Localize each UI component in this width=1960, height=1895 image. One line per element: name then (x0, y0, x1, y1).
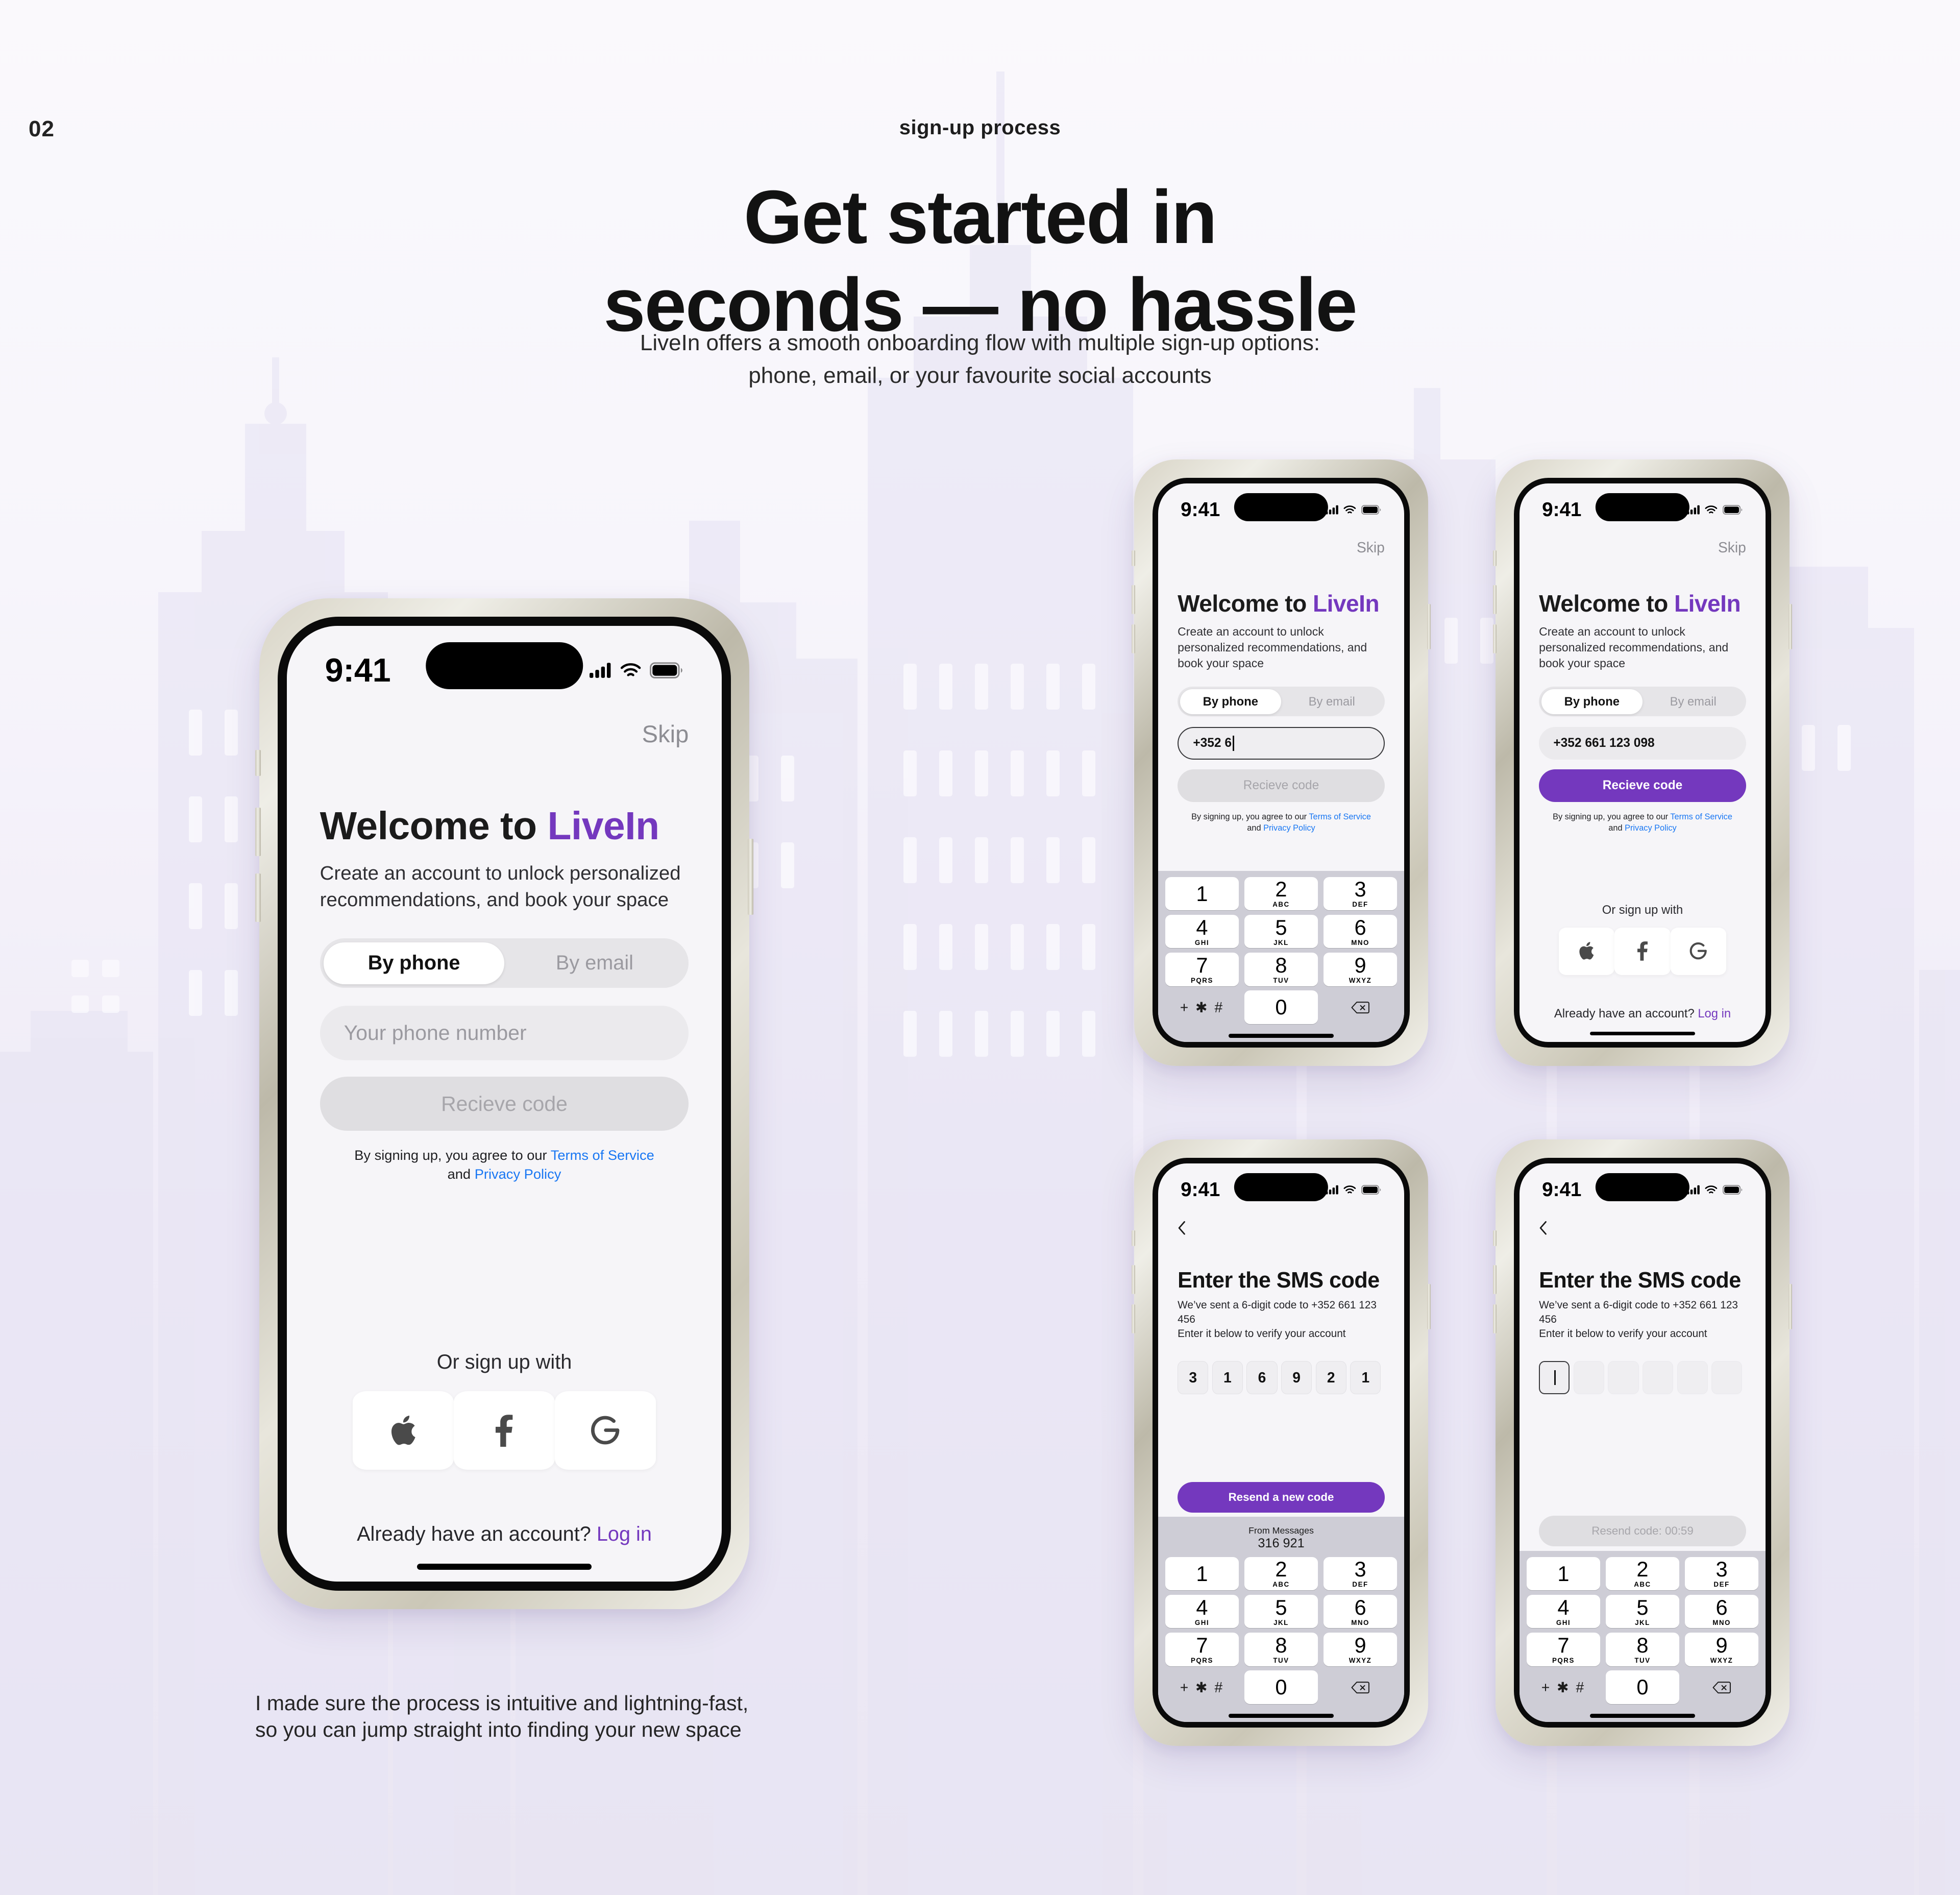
keypad-key-number: 8 (1275, 1635, 1287, 1656)
skip-button[interactable]: Skip (320, 720, 689, 748)
tab-by-phone[interactable]: By phone (324, 942, 504, 984)
legal-prefix: By signing up, you agree to our (1553, 812, 1670, 821)
signal-bars-icon (590, 662, 611, 678)
volume-down-button[interactable] (1493, 624, 1497, 653)
page-title: Get started in seconds — no hassle (0, 174, 1960, 349)
tab-by-phone[interactable]: By phone (1180, 689, 1281, 714)
keypad-key-number: 9 (1716, 1635, 1727, 1656)
status-bar: 9:41 (1520, 1169, 1766, 1210)
keypad-key-2[interactable]: 2 ABC (1606, 1557, 1680, 1590)
page-subtitle-line-2: phone, email, or your favourite social a… (0, 359, 1960, 392)
keypad-key-number: 7 (1196, 955, 1208, 976)
dynamic-island (1234, 1173, 1328, 1201)
otp-digit-6[interactable] (1711, 1361, 1742, 1394)
home-indicator (1229, 1714, 1333, 1717)
otp-digit-1[interactable]: 3 (1178, 1361, 1208, 1394)
keypad-key-6[interactable]: 6 MNO (1685, 1595, 1759, 1628)
keypad-key-number: 5 (1636, 1597, 1648, 1618)
wifi-icon (1705, 505, 1718, 515)
keypad-key-9[interactable]: 9 WXYZ (1324, 1633, 1398, 1666)
device-bezel: 9:41 Enter the SMS code We’ve sent a 6-d… (1153, 1158, 1409, 1727)
keypad-key-symbols[interactable]: + ✱ # (1165, 1670, 1239, 1704)
otp-digit-2[interactable] (1574, 1361, 1604, 1394)
facebook-icon (1637, 941, 1648, 961)
keypad-key-5[interactable]: 5 JKL (1244, 1595, 1318, 1628)
keypad-key-number: 5 (1275, 1597, 1287, 1618)
privacy-policy-link[interactable]: Privacy Policy (1263, 823, 1315, 833)
device-bezel: 9:41 Skip Welcome to LiveIn Create an ac… (1514, 478, 1771, 1047)
keypad-key-number: 3 (1716, 1559, 1727, 1580)
keypad-key-number: 2 (1275, 879, 1287, 900)
keypad-key-9[interactable]: 9 WXYZ (1324, 953, 1398, 986)
keypad-key-letters: GHI (1556, 1619, 1571, 1626)
otp-digit-6[interactable]: 1 (1350, 1361, 1381, 1394)
backspace-icon[interactable] (1685, 1670, 1759, 1704)
keypad-key-letters: DEF (1352, 901, 1368, 908)
google-icon (591, 1415, 620, 1446)
keypad-key-4[interactable]: 4 GHI (1165, 1595, 1239, 1628)
numeric-keypad: 1 2 ABC 3 DEF 4 GHI 5 JKL 6 MNO 7 PQRS 8 (1158, 871, 1405, 1042)
legal-text: By signing up, you agree to our Terms of… (1539, 811, 1746, 834)
legal-prefix: By signing up, you agree to our (354, 1147, 551, 1163)
keypad-key-number: 2 (1636, 1559, 1648, 1580)
already-have-account: Already have an account? Log in (1539, 1007, 1746, 1021)
keypad-key-number: 6 (1354, 1597, 1366, 1618)
facebook-signup-button[interactable] (454, 1391, 555, 1470)
phone-number-input[interactable]: +352 6 (1178, 727, 1385, 760)
keypad-key-number: 4 (1557, 1597, 1569, 1618)
otp-digit-5[interactable]: 2 (1316, 1361, 1346, 1394)
volume-up-button[interactable] (255, 808, 261, 856)
log-in-link[interactable]: Log in (597, 1523, 652, 1545)
tab-by-phone[interactable]: By phone (1541, 689, 1643, 714)
phone-number-value: Your phone number (344, 1021, 527, 1045)
keypad-key-letters: MNO (1712, 1619, 1731, 1626)
keypad-key-letters: TUV (1273, 977, 1289, 984)
page-subtitle-line-1: LiveIn offers a smooth onboarding flow w… (0, 327, 1960, 359)
keypad-key-number: 3 (1354, 879, 1366, 900)
phone-number-input[interactable]: +352 661 123 098 (1539, 727, 1746, 760)
keypad-key-1[interactable]: 1 (1165, 1557, 1239, 1590)
signup-screen: Skip Welcome to LiveIn Create an account… (287, 704, 722, 1582)
iphone-mockup-phone-main-empty: 9:41 Skip Welcome to LiveIn Create an ac… (259, 598, 749, 1609)
battery-icon (1361, 1185, 1382, 1195)
keypad-key-6[interactable]: 6 MNO (1324, 1595, 1398, 1628)
otp-digit-3[interactable]: 6 (1246, 1361, 1277, 1394)
keypad-key-letters: GHI (1195, 1619, 1209, 1626)
sms-autofill-suggestion[interactable]: From Messages 316 921 (1158, 1521, 1405, 1554)
keypad-key-number: 1 (1557, 1563, 1569, 1585)
terms-of-service-link[interactable]: Terms of Service (1670, 812, 1732, 821)
recieve-code-button[interactable]: Recieve code (1539, 769, 1746, 802)
keypad-key-letters: MNO (1351, 1619, 1369, 1626)
legal-and: and (1247, 823, 1263, 833)
battery-icon (650, 662, 683, 678)
keypad-key-symbols[interactable]: + ✱ # (1527, 1670, 1601, 1704)
otp-digit-4[interactable] (1643, 1361, 1673, 1394)
otp-digit-5[interactable] (1677, 1361, 1708, 1394)
keypad-key-letters: ABC (1272, 1581, 1289, 1588)
silent-switch[interactable] (1132, 1230, 1135, 1246)
volume-up-button[interactable] (1493, 585, 1497, 614)
google-signup-button[interactable] (555, 1391, 656, 1470)
section-kicker: sign-up process (0, 116, 1960, 139)
keypad-key-number: 6 (1716, 1597, 1727, 1618)
terms-of-service-link[interactable]: Terms of Service (1309, 812, 1371, 821)
already-have-account-text: Already have an account? (1554, 1007, 1698, 1021)
iphone-mockup-sms-empty: 9:41 Enter the SMS code We’ve sent a 6-d… (1496, 1139, 1790, 1746)
text-caret (1554, 1370, 1556, 1384)
otp-digit-3[interactable] (1608, 1361, 1638, 1394)
sms-screen: Enter the SMS code We’ve sent a 6-digit … (1158, 1210, 1405, 1517)
otp-digit-2[interactable]: 1 (1212, 1361, 1243, 1394)
power-button[interactable] (1788, 1284, 1792, 1329)
or-sign-up-with-label: Or sign up with (320, 1351, 689, 1374)
status-bar: 9:41 (1158, 489, 1405, 530)
status-bar-time: 9:41 (325, 651, 391, 689)
welcome-heading: Welcome to LiveIn (1539, 590, 1746, 617)
battery-icon (1723, 1185, 1743, 1195)
silent-switch[interactable] (255, 750, 261, 776)
volume-up-button[interactable] (1132, 585, 1135, 614)
backspace-icon[interactable] (1324, 1670, 1398, 1704)
dynamic-island (1596, 493, 1689, 521)
sms-subtitle-line-2: Enter it below to verify your account (1539, 1327, 1746, 1341)
volume-down-button[interactable] (1132, 624, 1135, 653)
legal-prefix: By signing up, you agree to our (1191, 812, 1309, 821)
signup-method-tabs: By phone By email (1539, 687, 1746, 716)
power-button[interactable] (1788, 604, 1792, 649)
facebook-signup-button[interactable] (1614, 928, 1670, 975)
keypad-key-number: 2 (1275, 1559, 1287, 1580)
silent-switch[interactable] (1493, 1230, 1497, 1246)
keypad-grid: 1 2 ABC 3 DEF 4 GHI 5 JKL 6 MNO 7 PQRS 8 (1158, 1554, 1405, 1706)
keypad-key-number: 1 (1196, 1563, 1208, 1585)
legal-text: By signing up, you agree to our Terms of… (320, 1146, 689, 1184)
keypad-key-7[interactable]: 7 PQRS (1165, 953, 1239, 986)
welcome-heading-prefix: Welcome to (1539, 590, 1674, 617)
keypad-key-letters: PQRS (1191, 977, 1213, 984)
signup-subtitle: Create an account to unlock personalized… (320, 860, 689, 913)
sms-title: Enter the SMS code (1539, 1268, 1746, 1293)
keypad-key-3[interactable]: 3 DEF (1324, 1557, 1398, 1590)
skip-button[interactable]: Skip (1178, 539, 1385, 556)
volume-down-button[interactable] (255, 873, 261, 922)
resend-code-label: Resend a new code (1229, 1491, 1334, 1504)
signup-screen: Skip Welcome to LiveIn Create an account… (1158, 530, 1405, 871)
keypad-key-number: 8 (1275, 955, 1287, 976)
keypad-key-letters: JKL (1273, 939, 1289, 946)
keypad-key-letters: DEF (1352, 1581, 1368, 1588)
keypad-key-number: 8 (1636, 1635, 1648, 1656)
keypad-key-number: 0 (1275, 997, 1287, 1018)
keypad-key-8[interactable]: 8 TUV (1244, 1633, 1318, 1666)
keypad-key-letters: JKL (1635, 1619, 1650, 1626)
chevron-left-icon (1178, 1221, 1186, 1237)
back-button[interactable] (1539, 1221, 1746, 1237)
keypad-key-letters: WXYZ (1710, 1657, 1733, 1664)
otp-digit-1[interactable] (1539, 1361, 1570, 1394)
volume-down-button[interactable] (1493, 1304, 1497, 1333)
welcome-heading-prefix: Welcome to (1178, 590, 1313, 617)
otp-input-row: 316921 (1178, 1361, 1385, 1394)
dynamic-island (426, 642, 583, 689)
keypad-key-letters: GHI (1195, 939, 1209, 946)
keypad-key-letters: WXYZ (1349, 977, 1372, 984)
signup-method-tabs: By phone By email (1178, 687, 1385, 716)
page-title-line-1: Get started in (0, 174, 1960, 261)
recieve-code-button[interactable]: Recieve code (320, 1077, 689, 1131)
device-screen: 9:41 Skip Welcome to LiveIn Create an ac… (1158, 483, 1405, 1042)
recieve-code-label: Recieve code (1243, 779, 1319, 793)
keypad-key-6[interactable]: 6 MNO (1324, 915, 1398, 948)
keypad-key-2[interactable]: 2 ABC (1244, 877, 1318, 910)
signup-screen: Skip Welcome to LiveIn Create an account… (1520, 530, 1766, 1042)
keypad-key-letters: ABC (1272, 901, 1289, 908)
volume-up-button[interactable] (1132, 1265, 1135, 1294)
power-button[interactable] (748, 839, 754, 915)
legal-text: By signing up, you agree to our Terms of… (1178, 811, 1385, 834)
log-in-link[interactable]: Log in (1698, 1007, 1731, 1021)
keypad-key-number: 5 (1275, 917, 1287, 938)
resend-code-button[interactable]: Resend code: 00:59 (1539, 1516, 1746, 1546)
keypad-key-8[interactable]: 8 TUV (1606, 1633, 1680, 1666)
status-bar-time: 9:41 (1181, 1179, 1220, 1201)
keypad-key-symbols[interactable]: + ✱ # (1165, 990, 1239, 1024)
keypad-key-number: 3 (1354, 1559, 1366, 1580)
home-indicator (417, 1564, 592, 1570)
or-sign-up-with-label: Or sign up with (1539, 903, 1746, 917)
home-indicator (1590, 1714, 1695, 1717)
keypad-key-letters: MNO (1351, 939, 1369, 946)
status-bar-time: 9:41 (1181, 499, 1220, 521)
privacy-policy-link[interactable]: Privacy Policy (475, 1166, 561, 1182)
wifi-icon (620, 662, 641, 678)
keypad-key-number: 7 (1557, 1635, 1569, 1656)
keypad-key-number: 9 (1354, 1635, 1366, 1656)
keypad-key-2[interactable]: 2 ABC (1244, 1557, 1318, 1590)
power-button[interactable] (1427, 1284, 1431, 1329)
device-bezel: 9:41 Skip Welcome to LiveIn Create an ac… (278, 617, 730, 1590)
keypad-key-number: 0 (1636, 1677, 1648, 1698)
sms-subtitle: We’ve sent a 6-digit code to +352 661 12… (1178, 1298, 1385, 1341)
keypad-key-0[interactable]: 0 (1244, 990, 1318, 1024)
iphone-mockup-phone-complete: 9:41 Skip Welcome to LiveIn Create an ac… (1496, 459, 1790, 1066)
device-screen: 9:41 Skip Welcome to LiveIn Create an ac… (1520, 483, 1766, 1042)
page-footnote: I made sure the process is intuitive and… (255, 1690, 766, 1743)
recieve-code-label: Recieve code (1603, 779, 1683, 793)
keypad-key-letters: PQRS (1552, 1657, 1575, 1664)
keypad-key-7[interactable]: 7 PQRS (1165, 1633, 1239, 1666)
legal-and: and (448, 1166, 475, 1182)
keypad-key-letters: TUV (1273, 1657, 1289, 1664)
keypad-key-4[interactable]: 4 GHI (1527, 1595, 1601, 1628)
sms-screen: Enter the SMS code We’ve sent a 6-digit … (1520, 1210, 1766, 1551)
otp-digit-4[interactable]: 9 (1281, 1361, 1312, 1394)
device-screen: 9:41 Enter the SMS code We’ve sent a 6-d… (1520, 1163, 1766, 1722)
signup-subtitle: Create an account to unlock personalized… (1178, 624, 1385, 671)
keypad-key-number: 0 (1275, 1677, 1287, 1698)
device-bezel: 9:41 Skip Welcome to LiveIn Create an ac… (1153, 478, 1409, 1047)
apple-signup-button[interactable] (353, 1391, 454, 1470)
volume-up-button[interactable] (1493, 1265, 1497, 1294)
sms-subtitle: We’ve sent a 6-digit code to +352 661 12… (1539, 1298, 1746, 1341)
sms-title: Enter the SMS code (1178, 1268, 1385, 1293)
keypad-key-number: 4 (1196, 917, 1208, 938)
autofill-label: From Messages (1158, 1525, 1405, 1536)
keypad-key-8[interactable]: 8 TUV (1244, 953, 1318, 986)
keypad-key-letters: JKL (1273, 1619, 1289, 1626)
sms-subtitle-line-1: We’ve sent a 6-digit code to +352 661 12… (1178, 1298, 1385, 1327)
backspace-icon[interactable] (1324, 990, 1398, 1024)
numeric-keypad: From Messages 316 921 1 2 ABC 3 DEF 4 GH… (1158, 1517, 1405, 1722)
status-bar-time: 9:41 (1542, 499, 1581, 521)
brand-name: LiveIn (1313, 590, 1379, 617)
phone-number-input[interactable]: Your phone number (320, 1006, 689, 1060)
status-bar-time: 9:41 (1542, 1179, 1581, 1201)
phone-number-value: +352 661 123 098 (1553, 736, 1654, 750)
recieve-code-button[interactable]: Recieve code (1178, 769, 1385, 802)
keypad-key-3[interactable]: 3 DEF (1685, 1557, 1759, 1590)
device-bezel: 9:41 Enter the SMS code We’ve sent a 6-d… (1514, 1158, 1771, 1727)
facebook-icon (496, 1415, 513, 1447)
already-have-account-text: Already have an account? (357, 1523, 597, 1545)
google-signup-button[interactable] (1671, 928, 1726, 975)
wifi-icon (1343, 505, 1356, 515)
phone-number-value: +352 6 (1193, 736, 1232, 750)
brand-name: LiveIn (547, 804, 659, 848)
status-bar: 9:41 (1158, 1169, 1405, 1210)
iphone-mockup-phone-typing: 9:41 Skip Welcome to LiveIn Create an ac… (1134, 459, 1428, 1066)
otp-input-row (1539, 1361, 1746, 1394)
social-signup-row (1539, 928, 1746, 975)
keypad-key-letters: ABC (1634, 1581, 1651, 1588)
chevron-left-icon (1539, 1221, 1548, 1237)
legal-and: and (1608, 823, 1625, 833)
keypad-key-0[interactable]: 0 (1244, 1670, 1318, 1704)
already-have-account: Already have an account? Log in (320, 1523, 689, 1546)
keypad-key-7[interactable]: 7 PQRS (1527, 1633, 1601, 1666)
silent-switch[interactable] (1132, 550, 1135, 566)
keypad-key-number: 1 (1196, 883, 1208, 905)
apple-icon (389, 1415, 418, 1447)
welcome-heading: Welcome to LiveIn (320, 804, 689, 849)
keypad-key-1[interactable]: 1 (1165, 877, 1239, 910)
dynamic-island (1234, 493, 1328, 521)
keypad-key-5[interactable]: 5 JKL (1244, 915, 1318, 948)
keypad-key-0[interactable]: 0 (1606, 1670, 1680, 1704)
keypad-key-letters: WXYZ (1349, 1657, 1372, 1664)
battery-icon (1361, 505, 1382, 515)
sms-subtitle-line-2: Enter it below to verify your account (1178, 1327, 1385, 1341)
tab-by-email[interactable]: By email (1281, 689, 1382, 714)
keypad-key-letters: DEF (1713, 1581, 1729, 1588)
iphone-mockup-sms-filled: 9:41 Enter the SMS code We’ve sent a 6-d… (1134, 1139, 1428, 1746)
page-subtitle: LiveIn offers a smooth onboarding flow w… (0, 327, 1960, 392)
welcome-heading: Welcome to LiveIn (1178, 590, 1385, 617)
brand-name: LiveIn (1674, 590, 1741, 617)
tab-by-email[interactable]: By email (504, 942, 685, 984)
power-button[interactable] (1427, 604, 1431, 649)
wifi-icon (1343, 1185, 1356, 1195)
signup-subtitle: Create an account to unlock personalized… (1539, 624, 1746, 671)
apple-icon (1578, 941, 1595, 961)
keypad-key-letters: TUV (1634, 1657, 1650, 1664)
keypad-key-3[interactable]: 3 DEF (1324, 877, 1398, 910)
keypad-key-number: 7 (1196, 1635, 1208, 1656)
resend-code-button[interactable]: Resend a new code (1178, 1482, 1385, 1512)
resend-code-label: Resend code: 00:59 (1591, 1524, 1693, 1538)
battery-icon (1723, 505, 1743, 515)
keypad-key-9[interactable]: 9 WXYZ (1685, 1633, 1759, 1666)
apple-signup-button[interactable] (1559, 928, 1614, 975)
skip-button[interactable]: Skip (1539, 539, 1746, 556)
terms-of-service-link[interactable]: Terms of Service (551, 1147, 654, 1163)
privacy-policy-link[interactable]: Privacy Policy (1625, 823, 1677, 833)
sms-subtitle-line-1: We’ve sent a 6-digit code to +352 661 12… (1539, 1298, 1746, 1327)
home-indicator (1229, 1034, 1333, 1037)
home-indicator (1590, 1032, 1695, 1035)
back-button[interactable] (1178, 1221, 1385, 1237)
dynamic-island (1596, 1173, 1689, 1201)
device-screen: 9:41 Skip Welcome to LiveIn Create an ac… (287, 626, 722, 1582)
keypad-grid: 1 2 ABC 3 DEF 4 GHI 5 JKL 6 MNO 7 PQRS 8 (1520, 1554, 1766, 1706)
silent-switch[interactable] (1493, 550, 1497, 566)
status-bar: 9:41 (1520, 489, 1766, 530)
keypad-key-number: 9 (1354, 955, 1366, 976)
text-caret (1233, 736, 1234, 751)
volume-down-button[interactable] (1132, 1304, 1135, 1333)
keypad-key-1[interactable]: 1 (1527, 1557, 1601, 1590)
tab-by-email[interactable]: By email (1643, 689, 1744, 714)
keypad-key-number: 4 (1196, 1597, 1208, 1618)
keypad-key-letters: PQRS (1191, 1657, 1213, 1664)
status-bar: 9:41 (287, 636, 722, 704)
numeric-keypad: 1 2 ABC 3 DEF 4 GHI 5 JKL 6 MNO 7 PQRS 8 (1520, 1551, 1766, 1722)
autofill-value: 316 921 (1158, 1536, 1405, 1551)
social-signup-row (320, 1391, 689, 1470)
device-screen: 9:41 Enter the SMS code We’ve sent a 6-d… (1158, 1163, 1405, 1722)
keypad-key-number: 6 (1354, 917, 1366, 938)
welcome-heading-prefix: Welcome to (320, 804, 548, 848)
google-icon (1689, 942, 1707, 960)
wifi-icon (1705, 1185, 1718, 1195)
keypad-key-5[interactable]: 5 JKL (1606, 1595, 1680, 1628)
keypad-grid: 1 2 ABC 3 DEF 4 GHI 5 JKL 6 MNO 7 PQRS 8 (1158, 874, 1405, 1026)
recieve-code-label: Recieve code (441, 1092, 568, 1116)
signup-method-tabs: By phone By email (320, 938, 689, 988)
keypad-key-4[interactable]: 4 GHI (1165, 915, 1239, 948)
